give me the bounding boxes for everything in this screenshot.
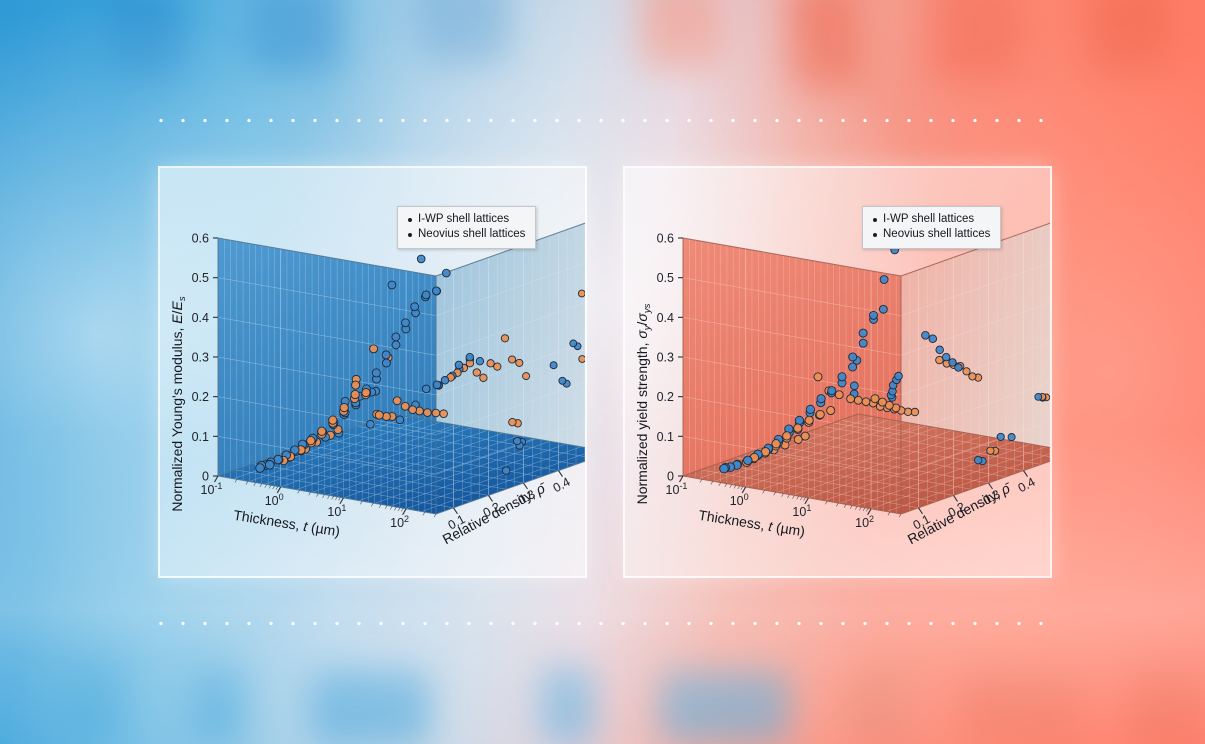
- svg-text:10-1: 10-1: [666, 481, 688, 497]
- svg-text:0.6: 0.6: [657, 232, 674, 246]
- svg-text:0.4: 0.4: [192, 311, 209, 325]
- legend-yield-strength: I-WP shell lattices Neovius shell lattic…: [862, 206, 1001, 249]
- svg-text:Thickness, t (µm): Thickness, t (µm): [697, 507, 806, 540]
- dotted-rule-top: [150, 118, 1055, 123]
- svg-text:0.5: 0.5: [657, 271, 674, 285]
- legend-item: I-WP shell lattices: [405, 212, 525, 227]
- svg-text:0.3: 0.3: [192, 351, 209, 365]
- legend-item: Neovius shell lattices: [405, 227, 525, 242]
- chart-panel-yield-strength: 00.10.20.30.40.50.6Normalized yield stre…: [623, 166, 1052, 578]
- figure-canvas: 00.10.20.30.40.50.6Normalized Young's mo…: [0, 0, 1205, 744]
- svg-text:0: 0: [667, 470, 674, 484]
- svg-text:0.3: 0.3: [657, 351, 674, 365]
- svg-text:0.4: 0.4: [1016, 475, 1038, 496]
- svg-text:0.6: 0.6: [192, 232, 209, 246]
- chart-panel-young-modulus: 00.10.20.30.40.50.6Normalized Young's mo…: [158, 166, 587, 578]
- legend-marker-neovius-icon: [873, 233, 877, 237]
- svg-text:0.2: 0.2: [192, 390, 209, 404]
- svg-text:Normalized Young's modulus, E/: Normalized Young's modulus, E/Es: [169, 296, 188, 511]
- svg-text:Normalized yield strength, σy/: Normalized yield strength, σy/σys: [634, 303, 653, 504]
- svg-text:0.2: 0.2: [657, 390, 674, 404]
- legend-marker-iwp-icon: [408, 218, 412, 222]
- legend-label: I-WP shell lattices: [883, 212, 974, 227]
- legend-label: Neovius shell lattices: [418, 227, 525, 242]
- legend-marker-iwp-icon: [873, 218, 877, 222]
- svg-text:10-1: 10-1: [201, 481, 223, 497]
- svg-text:102: 102: [855, 514, 874, 530]
- svg-text:101: 101: [792, 503, 811, 519]
- svg-text:102: 102: [390, 514, 409, 530]
- svg-text:0.4: 0.4: [551, 475, 573, 496]
- svg-text:0.1: 0.1: [657, 430, 674, 444]
- svg-text:0: 0: [202, 470, 209, 484]
- legend-item: I-WP shell lattices: [870, 212, 990, 227]
- svg-text:100: 100: [265, 492, 284, 508]
- legend-young-modulus: I-WP shell lattices Neovius shell lattic…: [397, 206, 536, 249]
- legend-item: Neovius shell lattices: [870, 227, 990, 242]
- svg-text:0.4: 0.4: [657, 311, 674, 325]
- svg-text:0.5: 0.5: [192, 271, 209, 285]
- legend-label: I-WP shell lattices: [418, 212, 509, 227]
- svg-text:101: 101: [327, 503, 346, 519]
- svg-text:100: 100: [730, 492, 749, 508]
- legend-label: Neovius shell lattices: [883, 227, 990, 242]
- svg-text:0.1: 0.1: [192, 430, 209, 444]
- dotted-rule-bottom: [150, 621, 1055, 626]
- svg-text:Thickness, t (µm): Thickness, t (µm): [232, 507, 341, 540]
- legend-marker-neovius-icon: [408, 233, 412, 237]
